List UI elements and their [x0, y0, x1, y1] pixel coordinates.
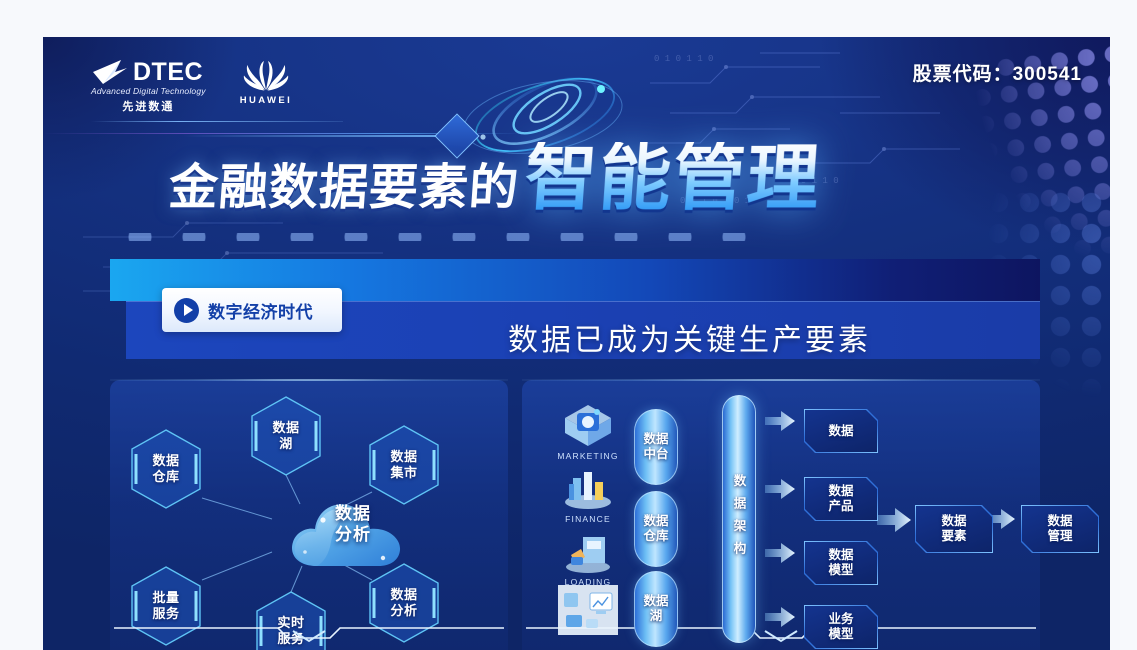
capsule-label-line1: 数据: [643, 594, 668, 608]
output-business-model-border: 业务模型: [804, 605, 878, 649]
cloud-label-line1: 数据: [335, 504, 371, 523]
banner-tag-label: 数字经济时代: [208, 298, 313, 323]
capsule-label-line2: 中台: [643, 447, 668, 461]
output-label-line2: 模型: [828, 563, 853, 577]
node-label-line1: 数据: [272, 420, 299, 435]
huawei-wordmark: HUAWEI: [240, 95, 292, 106]
dtec-arrow-logo-icon: [91, 59, 131, 85]
section-banner: 数字经济时代 数据已成为关键生产要素: [110, 259, 1040, 364]
node-label-line2: 仓库: [152, 469, 179, 484]
marketing-cube-icon: [561, 401, 615, 449]
final-label-line2: 管理: [1047, 529, 1072, 543]
output-label-line2: 模型: [828, 627, 853, 641]
node-data-lake[interactable]: 数据湖: [250, 395, 322, 477]
node-label-line2: 湖: [279, 436, 293, 451]
source-label: FINANCE: [556, 514, 620, 524]
stock-code-label: 股票代码：300541: [913, 59, 1082, 86]
node-label-line1: 批量: [152, 590, 179, 605]
result-label-line1: 数据: [941, 514, 966, 528]
play-icon: [174, 298, 199, 323]
output-label-line2: 产品: [828, 499, 853, 513]
title-dot-row-decoration: [113, 233, 753, 241]
source-marketing[interactable]: MARKETING: [556, 401, 620, 461]
output-label-line1: 数据: [828, 548, 853, 562]
output-label-line1: 数据: [828, 424, 853, 438]
banner-tag[interactable]: 数字经济时代: [162, 288, 342, 332]
source-label: MARKETING: [556, 451, 620, 461]
node-label-line1: 数据: [390, 449, 417, 464]
title-white-part: 金融数据要素的: [167, 162, 521, 214]
title-gradient-part: 智能管理: [522, 142, 823, 214]
output-data-border: 数据: [804, 409, 878, 453]
output-data-product[interactable]: 数据产品: [805, 478, 877, 520]
node-data-warehouse[interactable]: 数据仓库: [130, 428, 202, 510]
finance-chart-icon: [561, 464, 615, 512]
source-loading[interactable]: LOADING: [556, 527, 620, 587]
svg-text:0 1 0 1 1 0: 0 1 0 1 1 0: [654, 54, 713, 64]
final-data-management[interactable]: 数据管理: [1022, 506, 1098, 552]
pillar-label: 数据架构: [730, 474, 749, 564]
data-architecture-pillar[interactable]: 数据架构: [722, 395, 756, 643]
dtec-tagline: Advanced Digital Technology: [91, 86, 206, 96]
huawei-petal-logo-icon: [243, 61, 289, 91]
output-data[interactable]: 数据: [805, 410, 877, 452]
analytics-screen-icon: [558, 585, 618, 635]
output-business-model[interactable]: 业务模型: [805, 606, 877, 648]
result-label-line2: 要素: [941, 529, 966, 543]
node-label-line1: 数据: [390, 587, 417, 602]
node-label-line2: 分析: [390, 603, 417, 618]
result-data-element-border: 数据要素: [915, 505, 993, 553]
output-data-model-border: 数据模型: [804, 541, 878, 585]
panel-top-glow: [522, 379, 1040, 381]
node-label-line1: 数据: [152, 453, 179, 468]
title-connector-line: [183, 135, 448, 137]
capsule-label-line2: 湖: [650, 609, 663, 623]
output-data-product-border: 数据产品: [804, 477, 878, 521]
source-finance[interactable]: FINANCE: [556, 464, 620, 524]
loading-box-icon: [561, 527, 615, 575]
output-data-model[interactable]: 数据模型: [805, 542, 877, 584]
node-label-line2: 集市: [390, 465, 417, 480]
cloud-label-line2: 分析: [335, 525, 371, 544]
banner-headline: 数据已成为关键生产要素: [508, 315, 871, 359]
node-label-line2: 服务: [152, 606, 179, 621]
output-label-line1: 业务: [828, 612, 853, 626]
platform-data-lake[interactable]: 数据湖: [634, 571, 678, 647]
source-analytics[interactable]: [556, 585, 620, 637]
output-label-line1: 数据: [828, 484, 853, 498]
cloud-center-label: 数据 分析: [311, 503, 395, 545]
final-data-management-border: 数据管理: [1021, 505, 1099, 553]
dtec-wordmark: DTEC: [133, 60, 203, 85]
capsule-label-line1: 数据: [643, 432, 668, 446]
capsule-label-line2: 仓库: [643, 529, 668, 543]
result-data-element[interactable]: 数据要素: [916, 506, 992, 552]
brand-logos: DTEC Advanced Digital Technology 先进数通 HU…: [91, 59, 292, 114]
dtec-chinese-name: 先进数通: [91, 98, 206, 114]
platform-data-midplatform[interactable]: 数据中台: [634, 409, 678, 485]
final-label-line1: 数据: [1047, 514, 1072, 528]
header-divider-line: [91, 121, 343, 122]
presentation-slide: 0 1 0 1 1 0 1 0 1 1 0 0 1 1 0 1 0 1 DTEC…: [43, 37, 1110, 650]
logo-huawei: HUAWEI: [240, 59, 292, 106]
panel-bottom-border: [110, 622, 508, 644]
slide-title: 金融数据要素的 智能管理: [169, 142, 821, 214]
logo-dtec: DTEC Advanced Digital Technology 先进数通: [91, 59, 206, 114]
capsule-label-line1: 数据: [643, 514, 668, 528]
platform-data-warehouse[interactable]: 数据仓库: [634, 491, 678, 567]
